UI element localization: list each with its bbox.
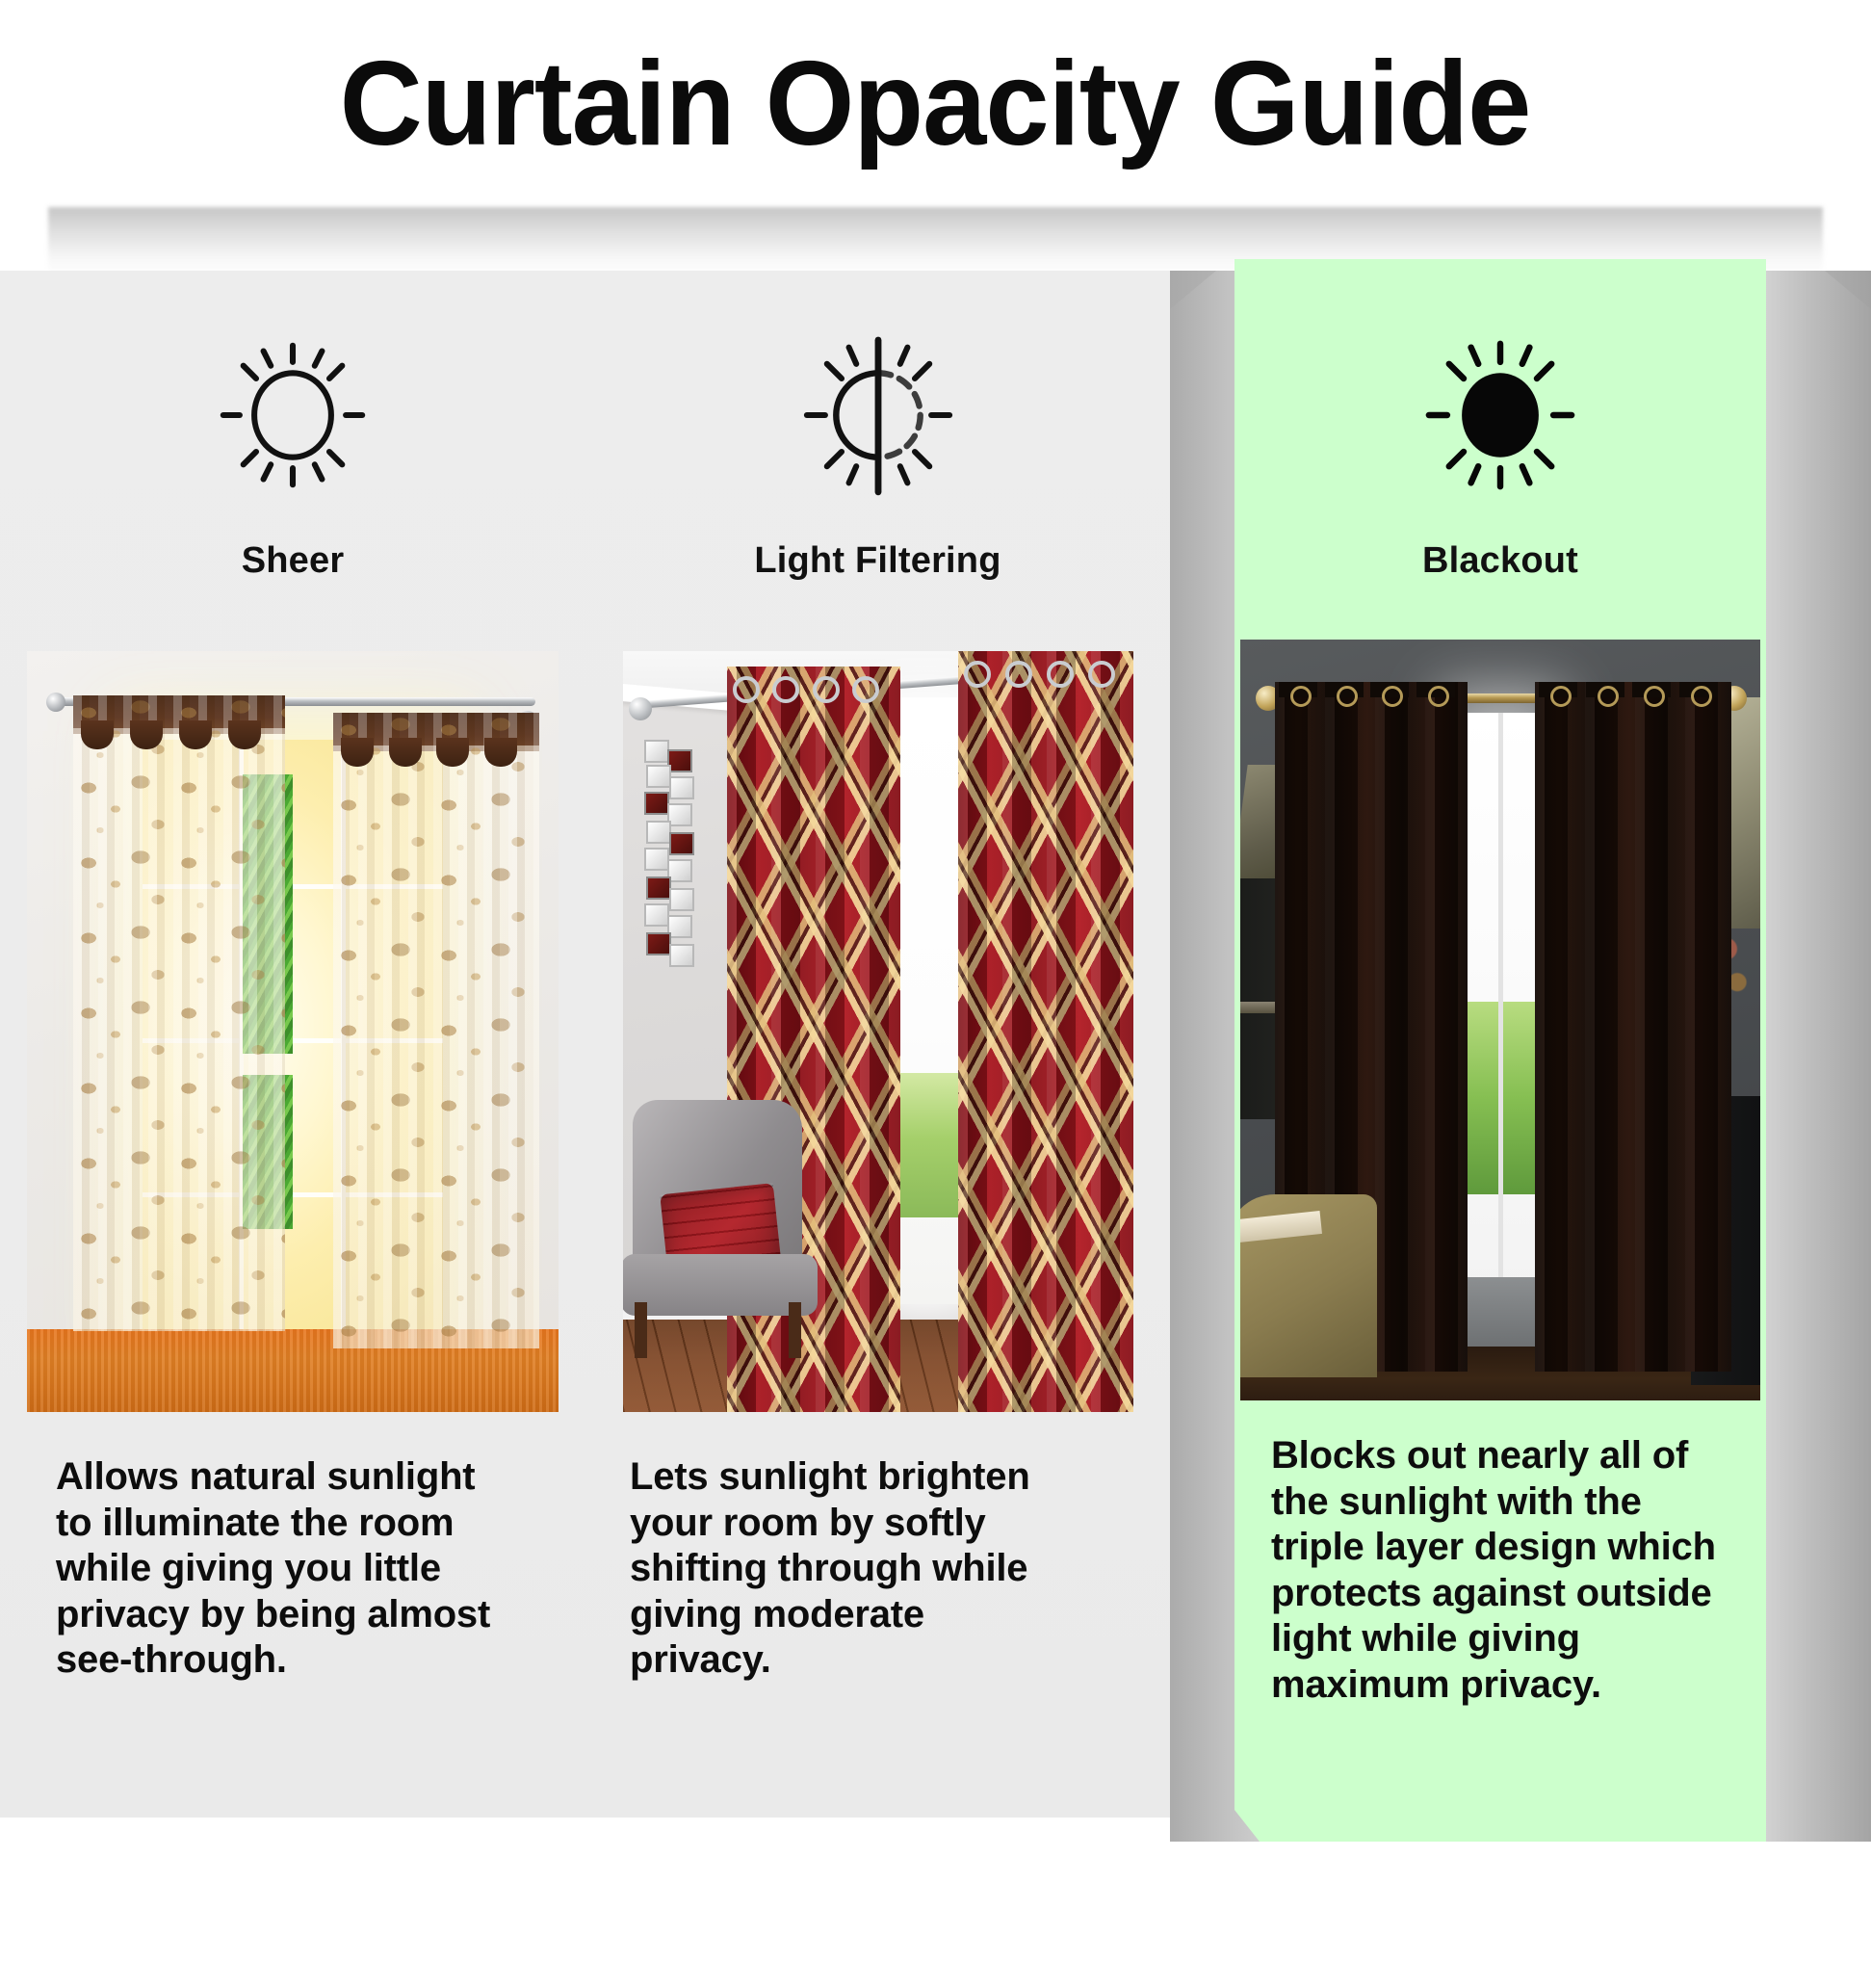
armchair — [623, 1100, 821, 1358]
description-sheer: Allows natural sunlight to illuminate th… — [56, 1454, 508, 1684]
sun-filled-icon — [1234, 271, 1766, 523]
highlight-shadow-right-bevel — [1765, 271, 1871, 1842]
sun-half-dashed-icon — [585, 271, 1170, 523]
description-light-filtering: Lets sunlight brighten your room by soft… — [630, 1454, 1063, 1684]
photo-sheer-curtains — [27, 651, 559, 1412]
column-label-sheer: Sheer — [0, 540, 585, 582]
sun-outline-icon — [0, 271, 585, 523]
page-title: Curtain Opacity Guide — [340, 44, 1531, 164]
page-header: Curtain Opacity Guide — [0, 0, 1871, 207]
column-label-blackout: Blackout — [1234, 540, 1766, 582]
photo-blackout-curtains — [1240, 640, 1760, 1400]
column-sheer[interactable]: Sheer Allows natural sunlight to i — [0, 271, 585, 1684]
column-label-light-filtering: Light Filtering — [585, 540, 1170, 582]
column-light-filtering[interactable]: Light Filtering — [585, 271, 1170, 1684]
column-blackout[interactable]: Blackout Blocks out nearly all of the su… — [1234, 271, 1766, 1709]
description-blackout: Blocks out nearly all of the sunlight wi… — [1271, 1433, 1733, 1709]
wall-art — [644, 740, 690, 981]
photo-light-filtering-curtains — [623, 651, 1133, 1412]
